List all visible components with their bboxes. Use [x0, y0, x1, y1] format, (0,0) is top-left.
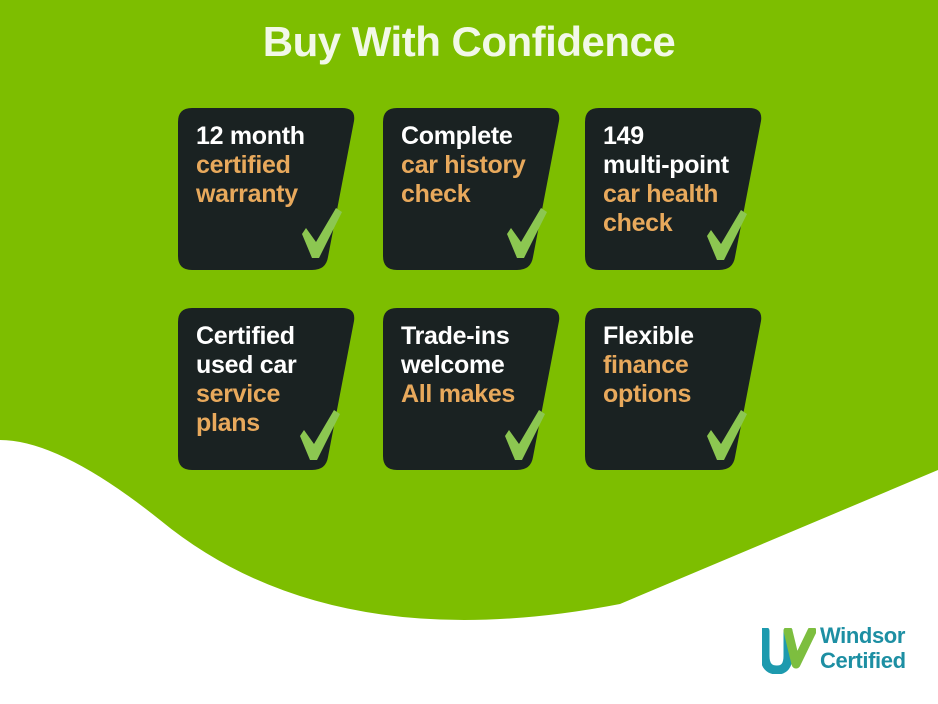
card-content: Trade-inswelcomeAll makes	[383, 308, 561, 470]
card-line-2: certified	[196, 151, 332, 180]
card-line-3: service	[196, 380, 332, 409]
card-content: Certifiedused carserviceplans	[178, 308, 356, 470]
card-line-1: Flexible	[603, 322, 739, 351]
check-mark-icon	[501, 408, 547, 464]
windsor-w-mark-icon	[762, 628, 816, 674]
card-12-month-certified-warranty[interactable]: 12 monthcertifiedwarranty	[178, 108, 356, 270]
card-content: Completecar historycheck	[383, 108, 561, 270]
windsor-certified-logo[interactable]: Windsor Certified	[762, 624, 932, 686]
card-line-2: used car	[196, 351, 332, 380]
card-line-3: All makes	[401, 380, 537, 409]
card-line-1: Certified	[196, 322, 332, 351]
card-text-block: Flexiblefinanceoptions	[603, 322, 739, 409]
card-flexible-finance-options[interactable]: Flexiblefinanceoptions	[585, 308, 763, 470]
poster-canvas: Buy With Confidence 12 monthcertifiedwar…	[0, 0, 938, 704]
card-content: 149multi-pointcar healthcheck	[585, 108, 763, 270]
card-text-block: Completecar historycheck	[401, 122, 537, 209]
card-line-2: welcome	[401, 351, 537, 380]
logo-line-1: Windsor	[820, 624, 906, 649]
card-line-1: Complete	[401, 122, 537, 151]
check-mark-icon	[298, 206, 344, 262]
card-complete-car-history-check[interactable]: Completecar historycheck	[383, 108, 561, 270]
check-mark-icon	[703, 408, 749, 464]
card-line-1: Trade-ins	[401, 322, 537, 351]
card-certified-used-car-service-plans[interactable]: Certifiedused carserviceplans	[178, 308, 356, 470]
logo-line-2: Certified	[820, 649, 906, 674]
page-title: Buy With Confidence	[0, 18, 938, 66]
card-trade-ins-welcome-all-makes[interactable]: Trade-inswelcomeAll makes	[383, 308, 561, 470]
card-line-1: 149	[603, 122, 739, 151]
card-line-2: car history	[401, 151, 537, 180]
card-line-3: options	[603, 380, 739, 409]
card-line-3: car health	[603, 180, 739, 209]
card-content: Flexiblefinanceoptions	[585, 308, 763, 470]
card-text-block: Trade-inswelcomeAll makes	[401, 322, 537, 409]
card-text-block: 12 monthcertifiedwarranty	[196, 122, 332, 209]
card-line-1: 12 month	[196, 122, 332, 151]
logo-wordmark: Windsor Certified	[820, 624, 906, 673]
card-line-2: finance	[603, 351, 739, 380]
check-mark-icon	[296, 408, 342, 464]
card-line-3: check	[401, 180, 537, 209]
card-149-multi-point-car-health-check[interactable]: 149multi-pointcar healthcheck	[585, 108, 763, 270]
card-line-2: multi-point	[603, 151, 739, 180]
check-mark-icon	[703, 208, 749, 264]
card-content: 12 monthcertifiedwarranty	[178, 108, 356, 270]
check-mark-icon	[503, 206, 549, 262]
card-line-3: warranty	[196, 180, 332, 209]
